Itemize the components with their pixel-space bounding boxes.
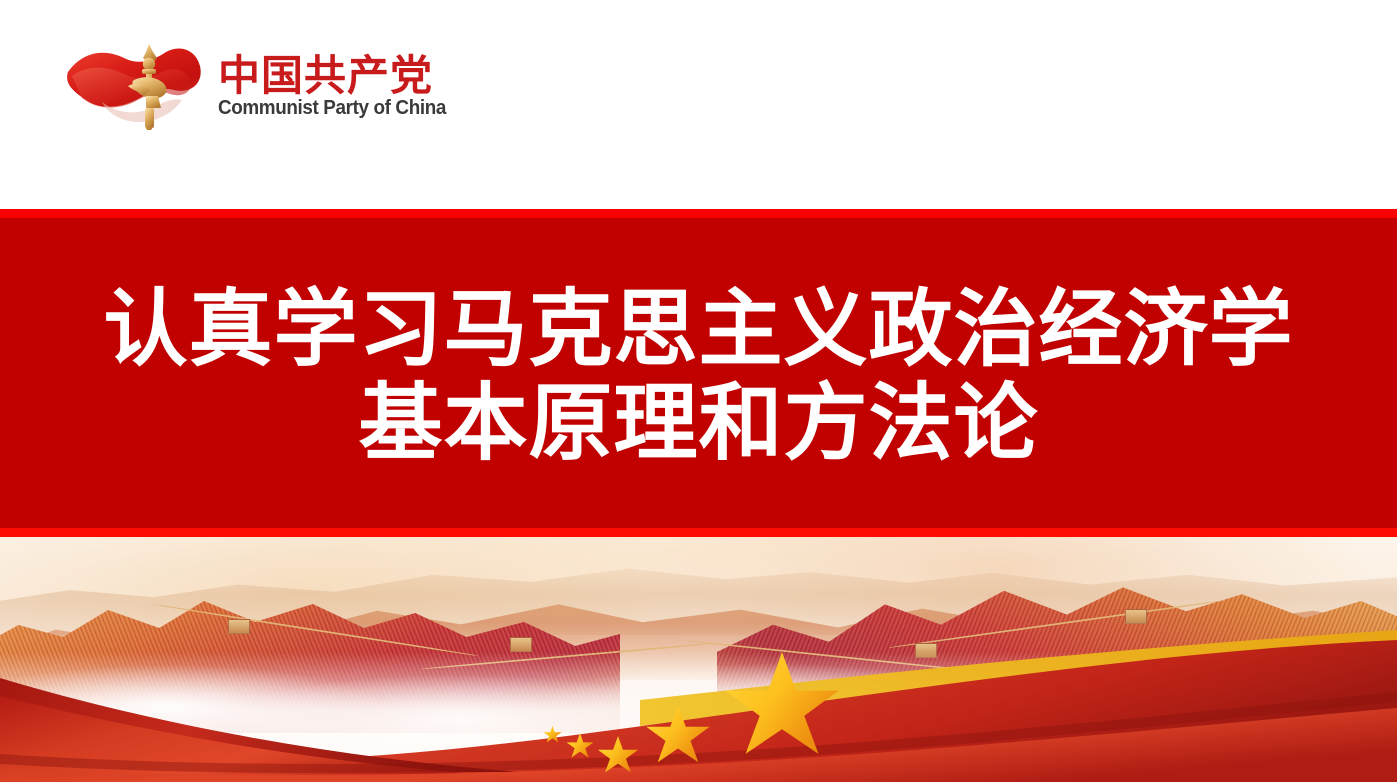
watchtower-icon [510, 637, 532, 652]
great-wall-mountain-landscape-icon [0, 537, 1397, 782]
watchtower-icon [228, 619, 250, 634]
page-title-line-1: 认真学习马克思主义政治经济学 [103, 282, 1293, 376]
presentation-title-slide: 中国共产党 Communist Party of China 认真学习马克思主义… [0, 0, 1397, 782]
page-title-line-2: 基本原理和方法论 [358, 376, 1038, 470]
logo-wordmark: 中国共产党 Communist Party of China [218, 51, 466, 120]
slide-title-block: 认真学习马克思主义政治经济学 基本原理和方法论 [0, 209, 1397, 537]
red-flag-with-gold-hammer-sickle-emblem-icon [62, 36, 212, 136]
logo-chinese-name: 中国共产党 [218, 55, 466, 97]
slide-header: 中国共产党 Communist Party of China [0, 0, 1397, 209]
cloud-sea-icon [0, 652, 1397, 782]
cpc-logo-lockup: 中国共产党 Communist Party of China [62, 33, 442, 138]
watchtower-icon [1125, 609, 1147, 624]
logo-english-name: Communist Party of China [218, 97, 446, 120]
title-red-band: 认真学习马克思主义政治经济学 基本原理和方法论 [0, 209, 1397, 537]
